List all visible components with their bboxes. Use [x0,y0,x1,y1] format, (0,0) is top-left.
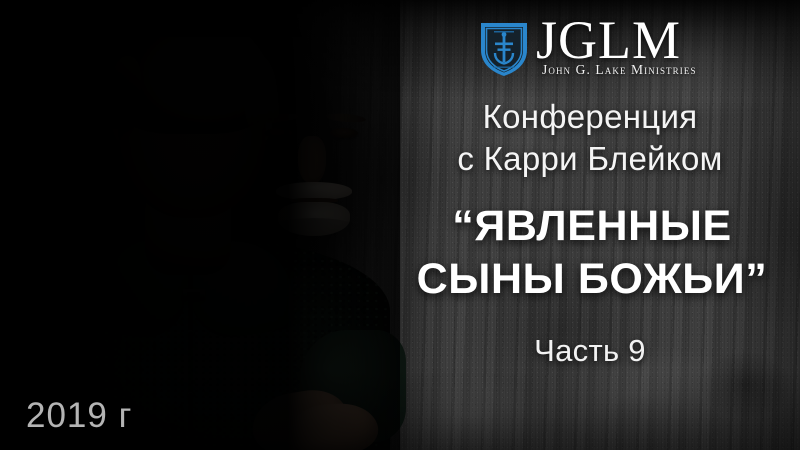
slide-title-line-1: “ЯВЛЕННЫЕ [392,200,792,253]
jglm-main-text: JGLM [536,16,697,66]
conference-line-2: с Карри Блейком [457,140,722,177]
slide-title: “ЯВЛЕННЫЕ СЫНЫ БОЖЬИ” [392,200,792,307]
conference-line-1: Конференция [483,98,698,135]
year-label: 2019 г [26,396,132,436]
jglm-subtitle: John G. Lake Ministries [542,62,697,78]
video-thumbnail-slide: JGLM John G. Lake Ministries Конференция… [0,0,800,450]
jglm-logo: JGLM John G. Lake Ministries [478,16,778,86]
conference-heading: Конференция с Карри Блейком [400,96,780,179]
jglm-wordmark: JGLM John G. Lake Ministries [536,16,697,78]
slide-title-line-2: СЫНЫ БОЖЬИ” [392,253,792,306]
jglm-shield-icon [478,20,530,78]
part-label: Часть 9 [400,333,780,369]
